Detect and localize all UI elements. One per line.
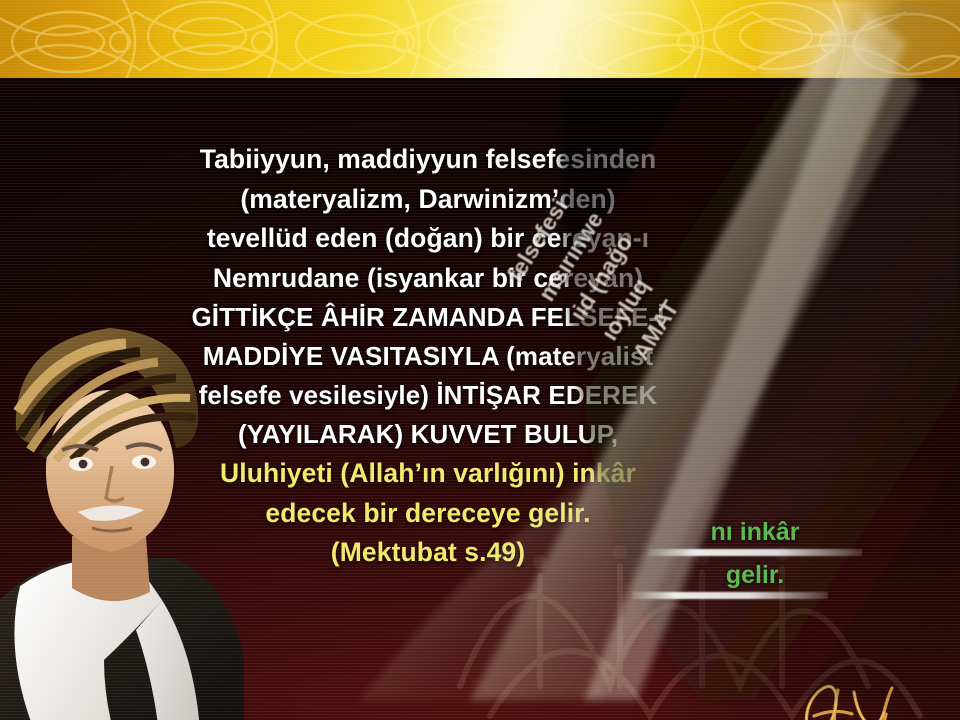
quote-line-4: Nemrudane (isyankar bir cereyan) xyxy=(96,265,760,292)
video-frame: Tabiiyyun, maddiyyun felsefesinden (mate… xyxy=(0,0,960,720)
quote-line-7: felsefe vesilesiyle) İNTİŞAR EDEREK xyxy=(96,382,760,408)
quote-source: (Mektubat s.49) xyxy=(96,539,760,566)
hy-monogram-icon xyxy=(792,672,912,720)
quote-line-1: Tabiiyyun, maddiyyun felsefesinden xyxy=(96,146,760,173)
quote-line-8: (YAYILARAK) KUVVET BULUP, xyxy=(96,421,760,447)
gold-band-sheen xyxy=(404,0,696,78)
quote-line-6: MADDİYE VASITASIYLA (materyalist xyxy=(96,343,760,369)
gold-band-wipe-highlight xyxy=(760,0,960,78)
quote-line-2: (materyalizm, Darwinizm’den) xyxy=(96,186,760,213)
quotation-block: Tabiiyyun, maddiyyun felsefesinden (mate… xyxy=(96,146,760,579)
quote-line-10: edecek bir dereceye gelir. xyxy=(96,500,760,527)
quote-line-3: tevellüd eden (doğan) bir cereyan-ı xyxy=(96,225,760,252)
quote-line-5: GİTTİKÇE ÂHİR ZAMANDA FELSEFE-İ xyxy=(96,304,760,330)
quote-line-9: Uluhiyeti (Allah’ın varlığını) inkâr xyxy=(96,460,760,487)
slide-stage: Tabiiyyun, maddiyyun felsefesinden (mate… xyxy=(0,86,960,720)
signature-monogram xyxy=(792,672,912,720)
ornamental-gold-header-band xyxy=(0,0,960,78)
